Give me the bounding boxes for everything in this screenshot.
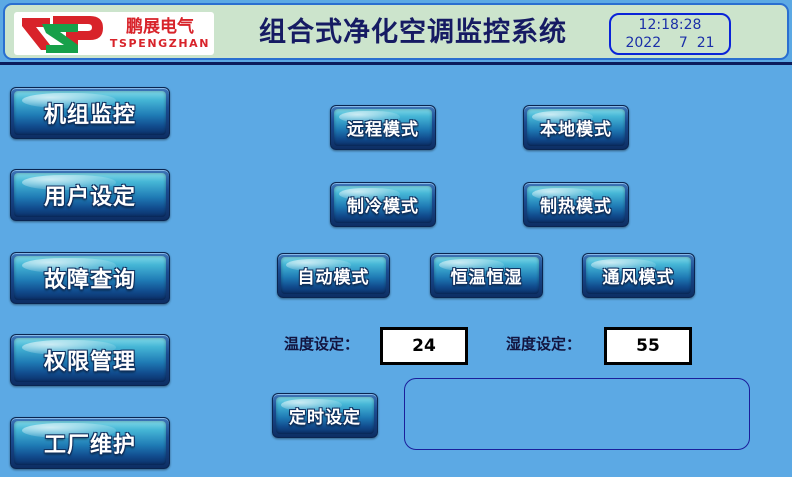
mode-button-label: 制热模式 — [540, 192, 612, 217]
mode-button-cooling[interactable]: 制冷模式 — [330, 182, 436, 227]
sidebar-item-label: 用户设定 — [44, 179, 136, 211]
button-face: 用户设定 — [14, 173, 166, 217]
button-face: 自动模式 — [281, 257, 386, 294]
mode-button-remote[interactable]: 远程模式 — [330, 105, 436, 150]
logo-chinese-name: 鹏展电气 — [110, 16, 210, 36]
button-face: 权限管理 — [14, 338, 166, 382]
sidebar-item-user-settings[interactable]: 用户设定 — [10, 169, 170, 221]
sidebar-item-label: 故障查询 — [44, 262, 136, 294]
sidebar-item-permission-management[interactable]: 权限管理 — [10, 334, 170, 386]
mode-button-label: 制冷模式 — [347, 192, 419, 217]
mode-button-label: 恒温恒湿 — [451, 263, 523, 288]
mode-button-label: 自动模式 — [298, 263, 370, 288]
mode-button-label: 远程模式 — [347, 115, 419, 140]
button-face: 制冷模式 — [334, 186, 432, 223]
message-display-panel[interactable] — [404, 378, 750, 450]
mode-button-local[interactable]: 本地模式 — [523, 105, 629, 150]
temperature-setpoint-input[interactable]: 24 — [380, 327, 468, 365]
company-logo: 鹏展电气 TSPENGZHAN — [14, 12, 214, 55]
mode-button-ventilation[interactable]: 通风模式 — [582, 253, 695, 298]
tspengzhan-logo-mark — [20, 14, 104, 54]
clock-date: 2022 7 21 — [611, 35, 729, 52]
header-divider — [0, 62, 792, 65]
button-face: 通风模式 — [586, 257, 691, 294]
page-title: 组合式净化空调监控系统 — [233, 15, 593, 51]
button-face: 远程模式 — [334, 109, 432, 146]
mode-button-label: 通风模式 — [603, 263, 675, 288]
sidebar-item-unit-monitoring[interactable]: 机组监控 — [10, 87, 170, 139]
timer-setting-label: 定时设定 — [289, 403, 361, 428]
system-clock: 12:18:28 2022 7 21 — [609, 13, 731, 55]
svg-text:鹏展电气: 鹏展电气 — [126, 16, 194, 36]
button-face: 工厂维护 — [14, 421, 166, 465]
sidebar-item-label: 工厂维护 — [44, 427, 136, 459]
mode-button-constant-temp-humidity[interactable]: 恒温恒湿 — [430, 253, 543, 298]
temperature-setpoint-label: 温度设定： — [284, 334, 359, 354]
mode-button-label: 本地模式 — [540, 115, 612, 140]
sidebar-item-factory-maintenance[interactable]: 工厂维护 — [10, 417, 170, 469]
sidebar-item-fault-query[interactable]: 故障查询 — [10, 252, 170, 304]
humidity-setpoint-label: 湿度设定： — [506, 334, 581, 354]
button-face: 制热模式 — [527, 186, 625, 223]
button-face: 故障查询 — [14, 256, 166, 300]
mode-button-heating[interactable]: 制热模式 — [523, 182, 629, 227]
humidity-setpoint-input[interactable]: 55 — [604, 327, 692, 365]
mode-button-auto[interactable]: 自动模式 — [277, 253, 390, 298]
button-face: 定时设定 — [276, 397, 374, 434]
app-header: 鹏展电气 TSPENGZHAN 组合式净化空调监控系统 12:18:28 202… — [3, 3, 789, 60]
button-face: 机组监控 — [14, 91, 166, 135]
clock-time: 12:18:28 — [611, 17, 729, 34]
sidebar-item-label: 机组监控 — [44, 97, 136, 129]
sidebar-item-label: 权限管理 — [44, 344, 136, 376]
timer-setting-button[interactable]: 定时设定 — [272, 393, 378, 438]
logo-latin-name: TSPENGZHAN — [108, 37, 212, 50]
button-face: 恒温恒湿 — [434, 257, 539, 294]
button-face: 本地模式 — [527, 109, 625, 146]
